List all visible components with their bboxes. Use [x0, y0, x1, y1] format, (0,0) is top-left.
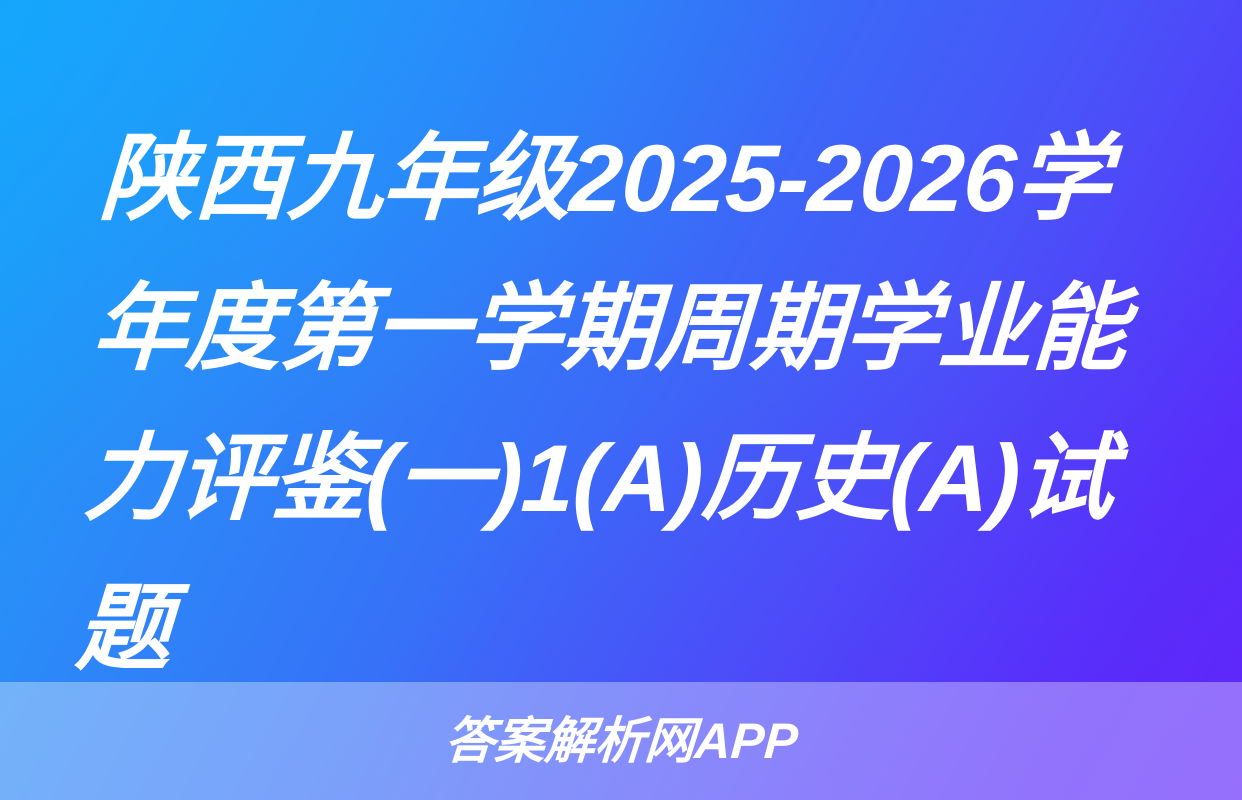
- watermark-banner: 答案解析网APP: [0, 682, 1242, 800]
- app-watermark-label: 答案解析网APP: [443, 716, 799, 766]
- page-title: 陕西九年级2025-2026学年度第一学期周期学业能力评鉴(一)1(A)历史(A…: [73, 104, 1150, 704]
- title-card: 陕西九年级2025-2026学年度第一学期周期学业能力评鉴(一)1(A)历史(A…: [0, 0, 1242, 800]
- title-block: 陕西九年级2025-2026学年度第一学期周期学业能力评鉴(一)1(A)历史(A…: [104, 104, 1150, 704]
